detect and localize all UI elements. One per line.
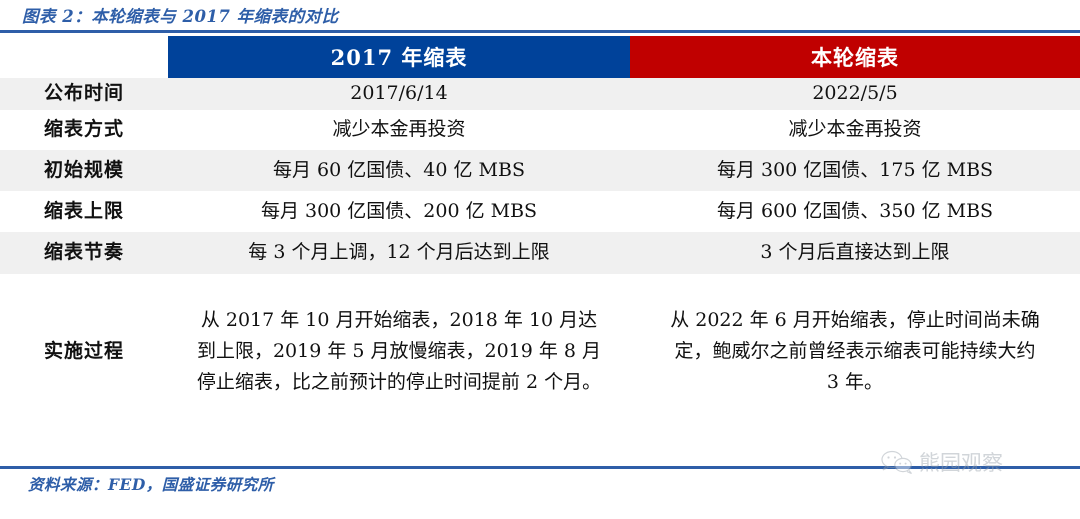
watermark: 熊园观察 <box>880 447 1003 477</box>
cell-2017-method: 减少本金再投资 <box>168 110 630 150</box>
cell-current-method: 减少本金再投资 <box>630 110 1080 150</box>
cell-current-announce-date: 2022/5/5 <box>630 78 1080 110</box>
cell-2017-process: 从 2017 年 10 月开始缩表，2018 年 10 月达到上限，2019 年… <box>168 274 630 429</box>
row-label-announce-date: 公布时间 <box>0 78 168 110</box>
wechat-icon <box>880 450 914 474</box>
cell-2017-announce-date: 2017/6/14 <box>168 78 630 110</box>
top-rule <box>0 30 1080 33</box>
cell-current-initial-scale: 每月 300 亿国债、175 亿 MBS <box>630 150 1080 191</box>
cell-current-pace: 3 个月后直接达到上限 <box>630 232 1080 274</box>
table-row: 初始规模 每月 60 亿国债、40 亿 MBS 每月 300 亿国债、175 亿… <box>0 150 1080 191</box>
row-label-pace: 缩表节奏 <box>0 232 168 274</box>
table-header-row: 2017 年缩表 本轮缩表 <box>0 36 1080 78</box>
cell-current-process: 从 2022 年 6 月开始缩表，停止时间尚未确定，鲍威尔之前曾经表示缩表可能持… <box>630 274 1080 429</box>
table-body: 公布时间 2017/6/14 2022/5/5 缩表方式 减少本金再投资 减少本… <box>0 78 1080 429</box>
exhibit-container: 图表 2：本轮缩表与 2017 年缩表的对比 2017 年缩表 本轮缩表 公布时… <box>0 0 1080 519</box>
row-label-process: 实施过程 <box>0 274 168 429</box>
bottom-rule <box>0 466 1080 469</box>
row-label-cap: 缩表上限 <box>0 191 168 232</box>
table-row: 缩表上限 每月 300 亿国债、200 亿 MBS 每月 600 亿国债、350… <box>0 191 1080 232</box>
row-label-initial-scale: 初始规模 <box>0 150 168 191</box>
cell-2017-pace: 每 3 个月上调，12 个月后达到上限 <box>168 232 630 274</box>
comparison-table: 2017 年缩表 本轮缩表 公布时间 2017/6/14 2022/5/5 缩表… <box>0 36 1080 429</box>
watermark-text: 熊园观察 <box>919 447 1003 477</box>
page-title: 图表 2：本轮缩表与 2017 年缩表的对比 <box>22 3 339 27</box>
header-col-2017: 2017 年缩表 <box>168 36 630 78</box>
cell-2017-cap: 每月 300 亿国债、200 亿 MBS <box>168 191 630 232</box>
table-row: 缩表节奏 每 3 个月上调，12 个月后达到上限 3 个月后直接达到上限 <box>0 232 1080 274</box>
cell-2017-initial-scale: 每月 60 亿国债、40 亿 MBS <box>168 150 630 191</box>
table-row: 公布时间 2017/6/14 2022/5/5 <box>0 78 1080 110</box>
source-note: 资料来源：FED，国盛证券研究所 <box>28 473 274 495</box>
cell-current-cap: 每月 600 亿国债、350 亿 MBS <box>630 191 1080 232</box>
row-label-method: 缩表方式 <box>0 110 168 150</box>
header-corner-cell <box>0 36 168 78</box>
table-row: 实施过程 从 2017 年 10 月开始缩表，2018 年 10 月达到上限，2… <box>0 274 1080 429</box>
table-header: 2017 年缩表 本轮缩表 <box>0 36 1080 78</box>
table-row: 缩表方式 减少本金再投资 减少本金再投资 <box>0 110 1080 150</box>
header-col-current: 本轮缩表 <box>630 36 1080 78</box>
